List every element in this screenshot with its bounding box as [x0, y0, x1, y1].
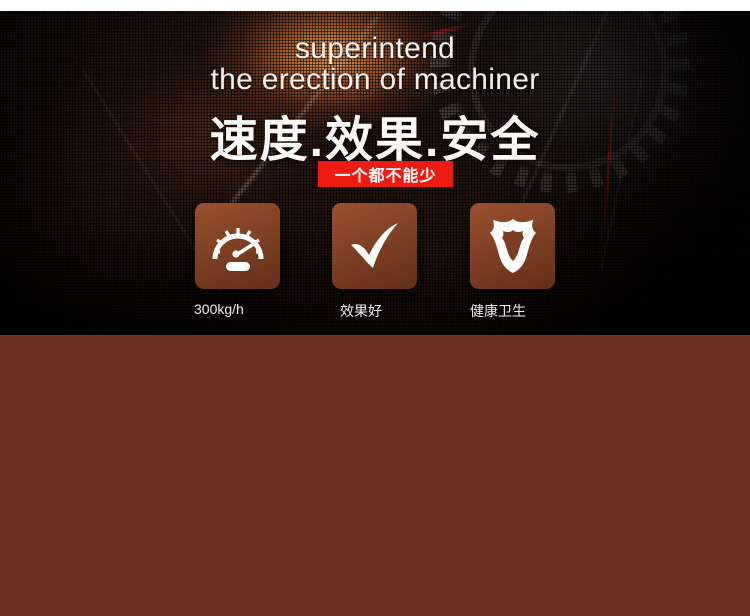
tile-hygiene[interactable]: [470, 203, 555, 289]
features-section: FOUR SUPER SPEED WALL BROKEN 高速 螺旋精滤 MUL…: [0, 335, 750, 616]
hero-banner: superintend the erection of machiner 速度.…: [0, 11, 750, 335]
feature-tiles: [195, 203, 555, 289]
speedometer-icon: [210, 219, 266, 273]
hero-english-line-2: the erection of machiner: [0, 63, 750, 97]
hero-red-badge: 一个都不能少: [318, 161, 453, 187]
hero-content: superintend the erection of machiner 速度.…: [0, 11, 750, 335]
hero-chinese-headline: 速度.效果.安全: [0, 100, 750, 170]
tile-speed[interactable]: [195, 203, 280, 289]
shield-icon: [489, 218, 537, 274]
checkmark-icon: [348, 222, 402, 270]
top-white-strip: [0, 0, 750, 11]
product-banner-page: superintend the erection of machiner 速度.…: [0, 0, 750, 616]
tile-effect[interactable]: [332, 203, 417, 289]
tile-label-hygiene: 健康卫生: [470, 301, 526, 321]
feature-tile-labels: 300kg/h 效果好 健康卫生: [195, 301, 555, 321]
hero-english-line-1: superintend: [0, 32, 750, 66]
tile-label-effect: 效果好: [340, 301, 382, 321]
tile-label-speed: 300kg/h: [194, 301, 244, 317]
